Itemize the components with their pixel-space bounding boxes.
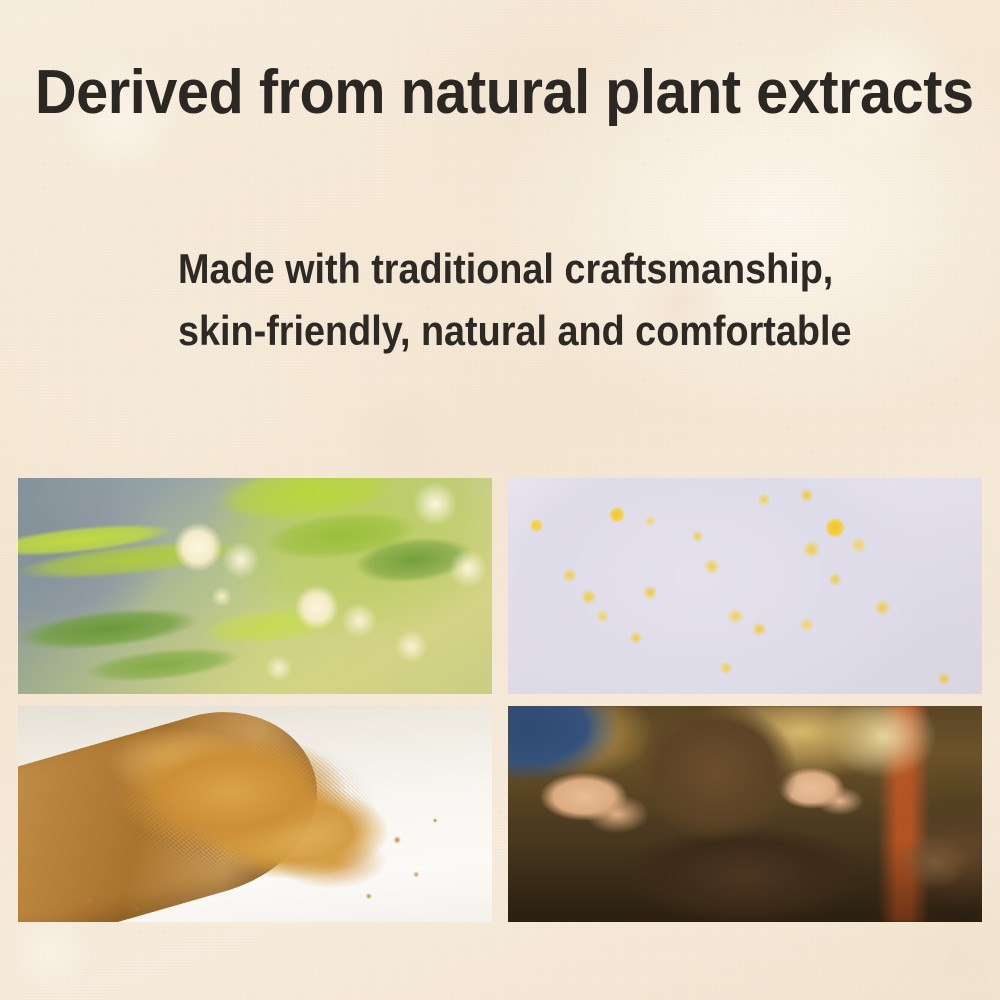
photo-traditional-grinding-mill bbox=[508, 706, 982, 922]
photo-grid bbox=[18, 478, 982, 922]
dried-flower-grain-texture bbox=[18, 706, 492, 922]
page-title: Derived from natural plant extracts bbox=[35, 62, 965, 124]
product-feature-poster: Derived from natural plant extracts Made… bbox=[0, 0, 1000, 1000]
subtitle-block: Made with traditional craftsmanship, ski… bbox=[178, 238, 808, 362]
photo-osmanthus-branch bbox=[18, 478, 492, 694]
subtitle-line-1: Made with traditional craftsmanship, bbox=[178, 238, 808, 300]
subtitle-line-2: skin-friendly, natural and comfortable bbox=[178, 300, 808, 362]
photo-scattered-blossoms bbox=[508, 478, 982, 694]
photo-dried-flowers-scoop bbox=[18, 706, 492, 922]
